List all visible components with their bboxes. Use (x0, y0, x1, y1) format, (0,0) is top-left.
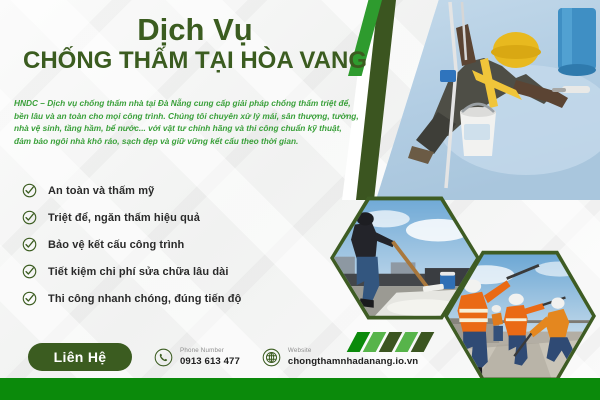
benefit-label: Bảo vệ kết cấu công trình (48, 239, 184, 251)
page-title-secondary: CHỐNG THẤM TẠI HÒA VANG (0, 48, 390, 73)
website-value: chongthamnhadanang.io.vn (288, 356, 418, 367)
phone-label: Phone Number (180, 347, 240, 354)
website-label: Website (288, 347, 418, 354)
contact-button[interactable]: Liên Hệ (28, 343, 132, 371)
list-item: An toàn và thấm mỹ (22, 178, 362, 203)
list-item: Thi công nhanh chóng, đúng tiến độ (22, 286, 362, 311)
phone-contact[interactable]: Phone Number 0913 613 477 (154, 347, 240, 366)
check-circle-icon (22, 291, 37, 306)
benefits-list: An toàn và thấm mỹ Triệt để, ngăn thấm h… (22, 178, 362, 313)
list-item: Tiết kiệm chi phí sửa chữa lâu dài (22, 259, 362, 284)
phone-icon (154, 348, 173, 367)
website-text: Website chongthamnhadanang.io.vn (288, 347, 418, 366)
photo-worker-applying-waterproof-coating-roof (376, 0, 600, 200)
check-circle-icon (22, 210, 37, 225)
benefit-label: Tiết kiệm chi phí sửa chữa lâu dài (48, 266, 229, 278)
website-contact[interactable]: Website chongthamnhadanang.io.vn (262, 347, 418, 366)
headline-block: Dịch Vụ CHỐNG THẤM TẠI HÒA VANG (0, 14, 390, 73)
phone-text: Phone Number 0913 613 477 (180, 347, 240, 366)
poster-canvas: Dịch Vụ CHỐNG THẤM TẠI HÒA VANG HNDC – D… (0, 0, 600, 400)
bottom-green-bar (0, 378, 600, 400)
check-circle-icon (22, 264, 37, 279)
roof-worker-illustration (376, 0, 600, 200)
contact-bar: Liên Hệ Phone Number 0913 613 477 Websit… (0, 336, 600, 378)
list-item: Triệt để, ngăn thấm hiệu quả (22, 205, 362, 230)
check-circle-icon (22, 183, 37, 198)
page-title-primary: Dịch Vụ (0, 14, 390, 47)
service-description: HNDC – Dịch vụ chống thấm nhà tại Đà Nẵn… (14, 97, 359, 147)
list-item: Bảo vệ kết cấu công trình (22, 232, 362, 257)
benefit-label: Triệt để, ngăn thấm hiệu quả (48, 212, 200, 224)
benefit-label: Thi công nhanh chóng, đúng tiến độ (48, 293, 241, 305)
globe-icon (262, 348, 281, 367)
phone-value: 0913 613 477 (180, 356, 240, 367)
benefit-label: An toàn và thấm mỹ (48, 185, 154, 197)
check-circle-icon (22, 237, 37, 252)
